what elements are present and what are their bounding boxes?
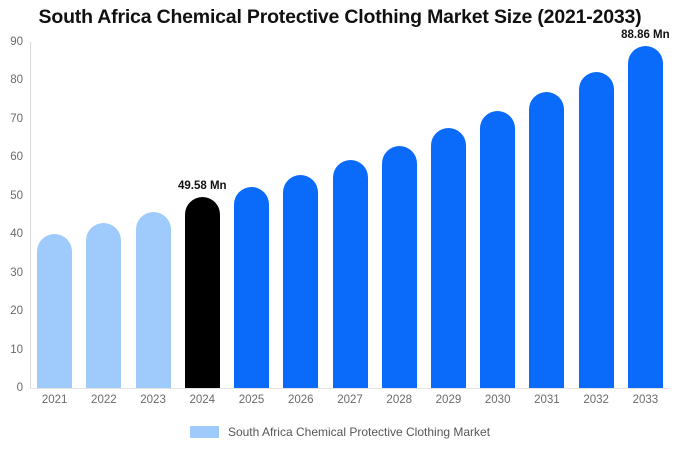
bar-value-label-2024: 49.58 Mn — [178, 180, 227, 192]
y-axis-tick-label: 20 — [10, 305, 23, 317]
x-axis-tick-label-2031: 2031 — [529, 394, 564, 406]
bar-2022[interactable] — [86, 223, 121, 388]
plot-area: 010203040506070809049.58 Mn88.86 Mn — [30, 42, 670, 388]
y-axis-tick-label: 10 — [10, 344, 23, 356]
bar-2025[interactable] — [234, 187, 269, 388]
bar-slot — [86, 42, 121, 388]
legend-item-label: South Africa Chemical Protective Clothin… — [228, 425, 490, 439]
x-axis-tick-label-2023: 2023 — [136, 394, 171, 406]
bar-2029[interactable] — [431, 128, 466, 388]
bar-slot — [579, 42, 614, 388]
bar-2030[interactable] — [480, 111, 515, 388]
bar-2028[interactable] — [382, 146, 417, 388]
y-axis-tick-label: 80 — [10, 74, 23, 86]
bar-slot — [431, 42, 466, 388]
bar-slot: 88.86 Mn — [628, 42, 663, 388]
y-axis-tick-label: 70 — [10, 113, 23, 125]
x-axis-tick-label-2032: 2032 — [579, 394, 614, 406]
bar-2032[interactable] — [579, 72, 614, 388]
x-axis-line — [30, 388, 670, 389]
y-axis-tick-label: 50 — [10, 190, 23, 202]
y-axis-tick-label: 30 — [10, 267, 23, 279]
x-axis-tick-label-2025: 2025 — [234, 394, 269, 406]
x-axis-tick-label-2033: 2033 — [628, 394, 663, 406]
x-axis-tick-label-2026: 2026 — [283, 394, 318, 406]
x-axis-tick-label-2027: 2027 — [333, 394, 368, 406]
bar-slot — [283, 42, 318, 388]
bar-chart: South Africa Chemical Protective Clothin… — [0, 0, 680, 450]
bar-2024[interactable] — [185, 197, 220, 388]
x-axis-tick-label-2028: 2028 — [382, 394, 417, 406]
bar-slot — [529, 42, 564, 388]
bar-slot — [37, 42, 72, 388]
y-axis-tick-label: 40 — [10, 228, 23, 240]
bar-slot — [136, 42, 171, 388]
x-axis-tick-label-2021: 2021 — [37, 394, 72, 406]
bar-slot — [333, 42, 368, 388]
bar-value-label-2033: 88.86 Mn — [621, 29, 670, 41]
bar-slot — [480, 42, 515, 388]
bar-slot — [234, 42, 269, 388]
bar-2023[interactable] — [136, 212, 171, 388]
y-axis-tick-label: 90 — [10, 36, 23, 48]
bar-2021[interactable] — [37, 234, 72, 388]
chart-title: South Africa Chemical Protective Clothin… — [0, 6, 680, 29]
bar-2033[interactable] — [628, 46, 663, 388]
bar-2031[interactable] — [529, 92, 564, 388]
x-axis-tick-label-2022: 2022 — [86, 394, 121, 406]
bar-2026[interactable] — [283, 175, 318, 388]
y-axis-tick-label: 60 — [10, 151, 23, 163]
bar-slot — [382, 42, 417, 388]
bar-2027[interactable] — [333, 160, 368, 388]
y-axis-tick-label: 0 — [17, 382, 23, 394]
bar-slot: 49.58 Mn — [185, 42, 220, 388]
x-axis-tick-label-2030: 2030 — [480, 394, 515, 406]
legend-swatch-icon — [190, 426, 219, 438]
x-axis-tick-label-2029: 2029 — [431, 394, 466, 406]
x-axis-tick-label-2024: 2024 — [185, 394, 220, 406]
chart-legend: South Africa Chemical Protective Clothin… — [0, 425, 680, 439]
